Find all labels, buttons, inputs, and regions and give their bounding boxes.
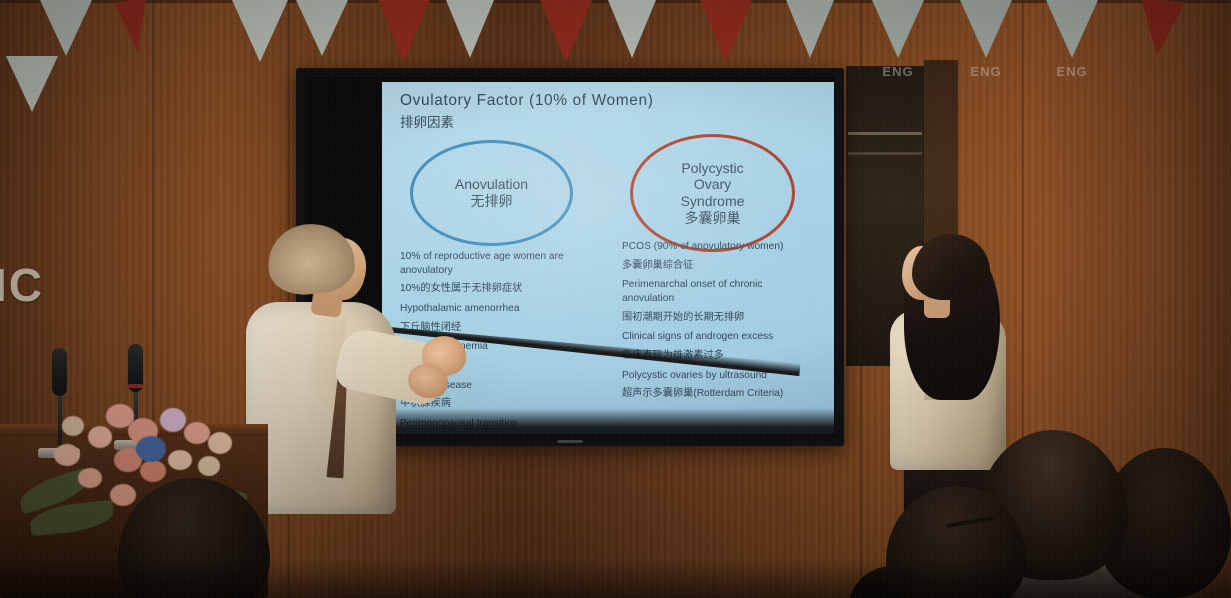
presentation-photo: FS FS FS ENG ENG ENG IC Ovulatory Factor… [0,0,1231,598]
vignette-overlay [0,0,1231,598]
